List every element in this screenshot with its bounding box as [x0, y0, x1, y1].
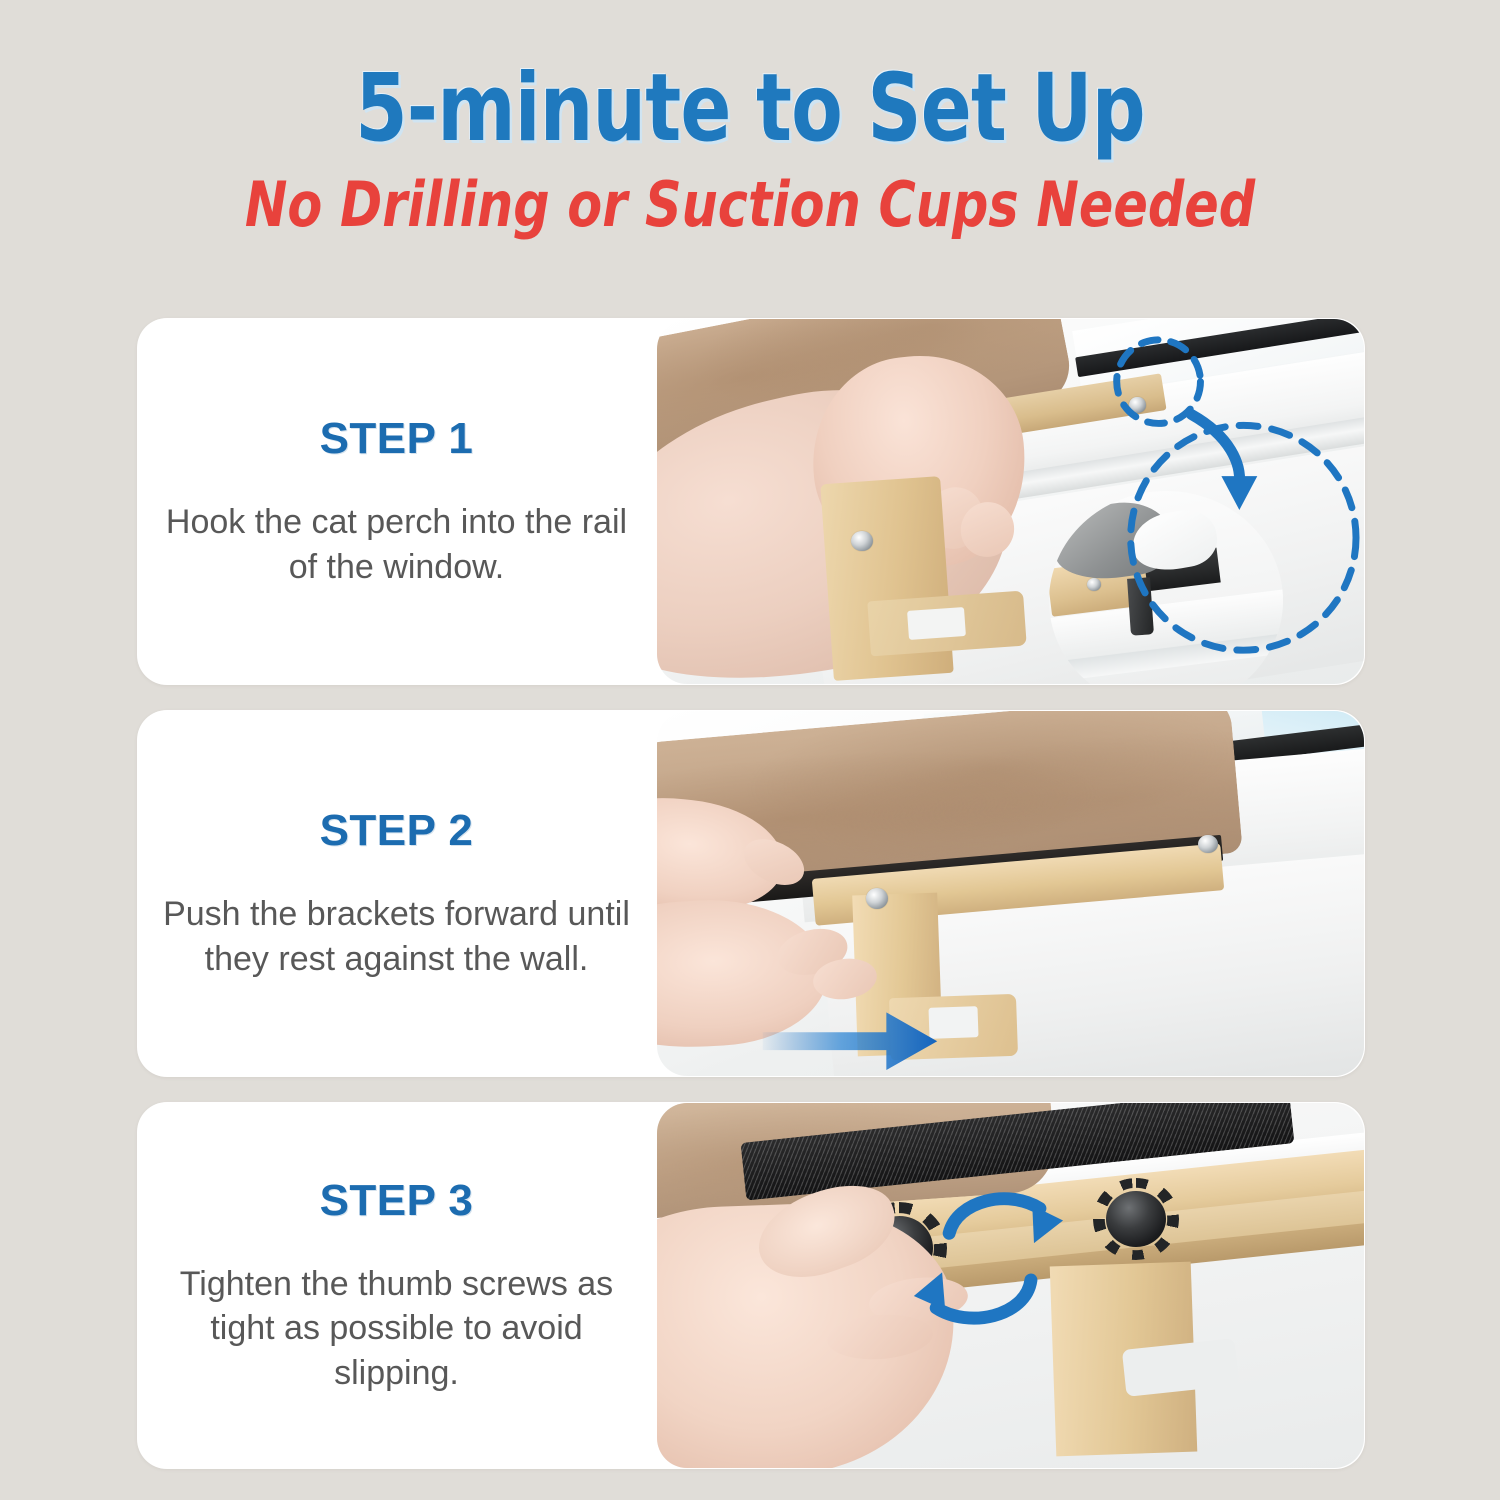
rail-screw	[1129, 397, 1145, 412]
step-3-text-block: STEP 3 Tighten the thumb screws as tight…	[137, 1102, 656, 1469]
board-screw-right	[1198, 835, 1218, 853]
step-3-photo	[657, 1103, 1364, 1468]
page-subtitle: No Drilling or Suction Cups Needed	[135, 174, 1365, 236]
step-3-description: Tighten the thumb screws as tight as pos…	[163, 1262, 630, 1395]
board-screw-left	[866, 888, 889, 909]
steps-list: STEP 1 Hook the cat perch into the rail …	[137, 318, 1365, 1494]
page-title: 5-minute to Set Up	[150, 62, 1350, 156]
thumb-screw-knob-right	[1106, 1191, 1166, 1248]
step-2-text-block: STEP 2 Push the brackets forward until t…	[137, 710, 656, 1077]
step-card-2: STEP 2 Push the brackets forward until t…	[137, 710, 1365, 1077]
step-1-description: Hook the cat perch into the rail of the …	[163, 500, 630, 588]
header: 5-minute to Set Up No Drilling or Suctio…	[0, 0, 1500, 236]
step-card-3: STEP 3 Tighten the thumb screws as tight…	[137, 1102, 1365, 1469]
step-3-label: STEP 3	[320, 1176, 474, 1226]
step-2-photo	[657, 711, 1364, 1076]
step-2-description: Push the brackets forward until they res…	[163, 892, 630, 980]
step-2-label: STEP 2	[320, 806, 474, 856]
step-card-1: STEP 1 Hook the cat perch into the rail …	[137, 318, 1365, 685]
step-1-photo	[657, 319, 1364, 684]
step-1-text-block: STEP 1 Hook the cat perch into the rail …	[137, 318, 656, 685]
step-1-label: STEP 1	[320, 414, 474, 464]
